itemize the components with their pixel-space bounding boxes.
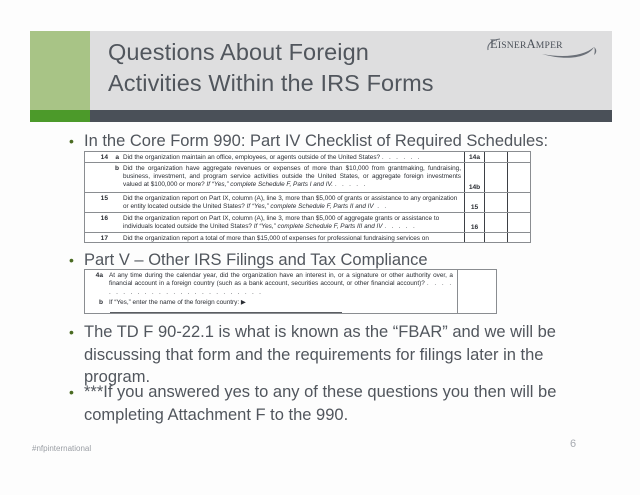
table-row: b Did the organization have aggregate re… <box>85 163 530 193</box>
form-line-number: 16 <box>85 213 111 232</box>
bullet-item-4: • ***If you answered yes to any of these… <box>66 381 566 426</box>
logo-wordmark: EISNERAMPER <box>490 37 563 52</box>
form-line-subletter <box>111 213 121 232</box>
eisneramper-logo: EISNERAMPER <box>484 34 604 64</box>
form-yes-cell[interactable] <box>484 152 507 162</box>
page-title-line-1: Questions About Foreign <box>108 37 468 68</box>
page-title: Questions About Foreign Activities Withi… <box>108 37 468 99</box>
form-line-subletter: b <box>85 297 107 314</box>
form-answer-cells[interactable] <box>457 297 496 314</box>
form-line-text: At any time during the calendar year, di… <box>107 270 457 297</box>
form-line-text: Did the organization report on Part IX, … <box>121 213 464 232</box>
header-underbar-green <box>30 110 90 122</box>
header-accent-block-green <box>30 31 90 110</box>
form-line-subletter <box>111 233 121 243</box>
bullet-marker: • <box>66 249 84 271</box>
form-line-text: Did the organization report on Part IX, … <box>121 193 464 212</box>
table-row: 17 Did the organization report a total o… <box>85 233 530 243</box>
bullet-text-4: ***If you answered yes to any of these q… <box>84 381 566 426</box>
country-name-input[interactable] <box>110 307 342 313</box>
form-line-code: 15 <box>464 193 484 212</box>
bullet-marker: • <box>66 130 84 152</box>
form-line-code: 14a <box>464 152 484 162</box>
form-line-question: If “Yes,” enter the name of the foreign … <box>109 299 239 306</box>
form-line-question: At any time during the calendar year, di… <box>109 272 453 287</box>
header-underbar-dark <box>90 110 612 122</box>
logo-letter-e: E <box>490 37 498 51</box>
dot-leader: . . <box>374 203 388 210</box>
logo-mper: MPER <box>536 40 563 51</box>
form-line-text: If “Yes,” enter the name of the foreign … <box>107 297 457 314</box>
form-answer-cells[interactable] <box>457 270 496 297</box>
form-990-part-v-excerpt: 4a At any time during the calendar year,… <box>84 269 497 314</box>
bullet-marker: • <box>66 381 84 403</box>
arrow-right-icon: ▶ <box>241 299 246 306</box>
form-line-instruction: If “Yes,” complete Schedule F, Parts II … <box>247 203 374 210</box>
form-yes-cell[interactable] <box>484 213 507 232</box>
form-line-text: Did the organization maintain an office,… <box>121 152 464 162</box>
form-line-code: 14b <box>464 163 484 192</box>
form-no-cell[interactable] <box>507 152 530 162</box>
bullet-marker: • <box>66 321 84 343</box>
form-line-number <box>85 163 111 192</box>
form-no-cell[interactable] <box>507 163 530 192</box>
form-yes-cell[interactable] <box>484 163 507 192</box>
dot-leader: . . . . . <box>335 181 367 188</box>
bullet-item-1: • In the Core Form 990: Part IV Checklis… <box>66 130 566 153</box>
table-row: 16 Did the organization report on Part I… <box>85 213 530 233</box>
form-no-cell[interactable] <box>507 193 530 212</box>
form-line-code <box>464 233 484 243</box>
form-yes-cell[interactable] <box>484 233 507 243</box>
form-line-number: 15 <box>85 193 111 212</box>
logo-isner: ISNER <box>498 40 527 51</box>
dot-leader: . . . . . <box>384 223 416 230</box>
form-line-code: 16 <box>464 213 484 232</box>
form-line-subletter <box>111 193 121 212</box>
form-yes-cell[interactable] <box>484 193 507 212</box>
form-line-number: 14 <box>85 152 111 162</box>
form-line-instruction: If “Yes,” complete Schedule F, Parts I a… <box>207 181 334 188</box>
table-row: b If “Yes,” enter the name of the foreig… <box>85 297 496 314</box>
bullet-text-3: The TD F 90-22.1 is what is known as the… <box>84 321 566 389</box>
form-no-cell[interactable] <box>507 213 530 232</box>
dot-leader: . . . . . . <box>382 154 421 161</box>
form-line-instruction: If “Yes,” complete Schedule F, Parts III… <box>254 223 383 230</box>
bullet-text-1: In the Core Form 990: Part IV Checklist … <box>84 130 548 153</box>
page-title-line-2: Activities Within the IRS Forms <box>108 68 468 99</box>
table-row: 14 a Did the organization maintain an of… <box>85 152 530 163</box>
form-no-cell[interactable] <box>507 233 530 243</box>
table-row: 4a At any time during the calendar year,… <box>85 270 496 297</box>
bullet-item-3: • The TD F 90-22.1 is what is known as t… <box>66 321 566 389</box>
footer-hashtag: #nfpinternational <box>32 444 91 453</box>
form-line-subletter: a <box>111 152 121 162</box>
form-line-text: Did the organization have aggregate reve… <box>121 163 464 192</box>
logo-letter-a: A <box>527 37 536 51</box>
form-line-number: 17 <box>85 233 111 243</box>
slide-canvas: Questions About Foreign Activities Withi… <box>0 0 640 495</box>
page-number: 6 <box>570 438 576 450</box>
form-line-question: Did the organization maintain an office,… <box>123 154 380 161</box>
form-990-part-iv-excerpt: 14 a Did the organization maintain an of… <box>84 151 531 243</box>
form-line-number: 4a <box>85 270 107 297</box>
table-row: 15 Did the organization report on Part I… <box>85 193 530 213</box>
form-line-text: Did the organization report a total of m… <box>121 233 464 243</box>
form-line-subletter: b <box>111 163 121 192</box>
